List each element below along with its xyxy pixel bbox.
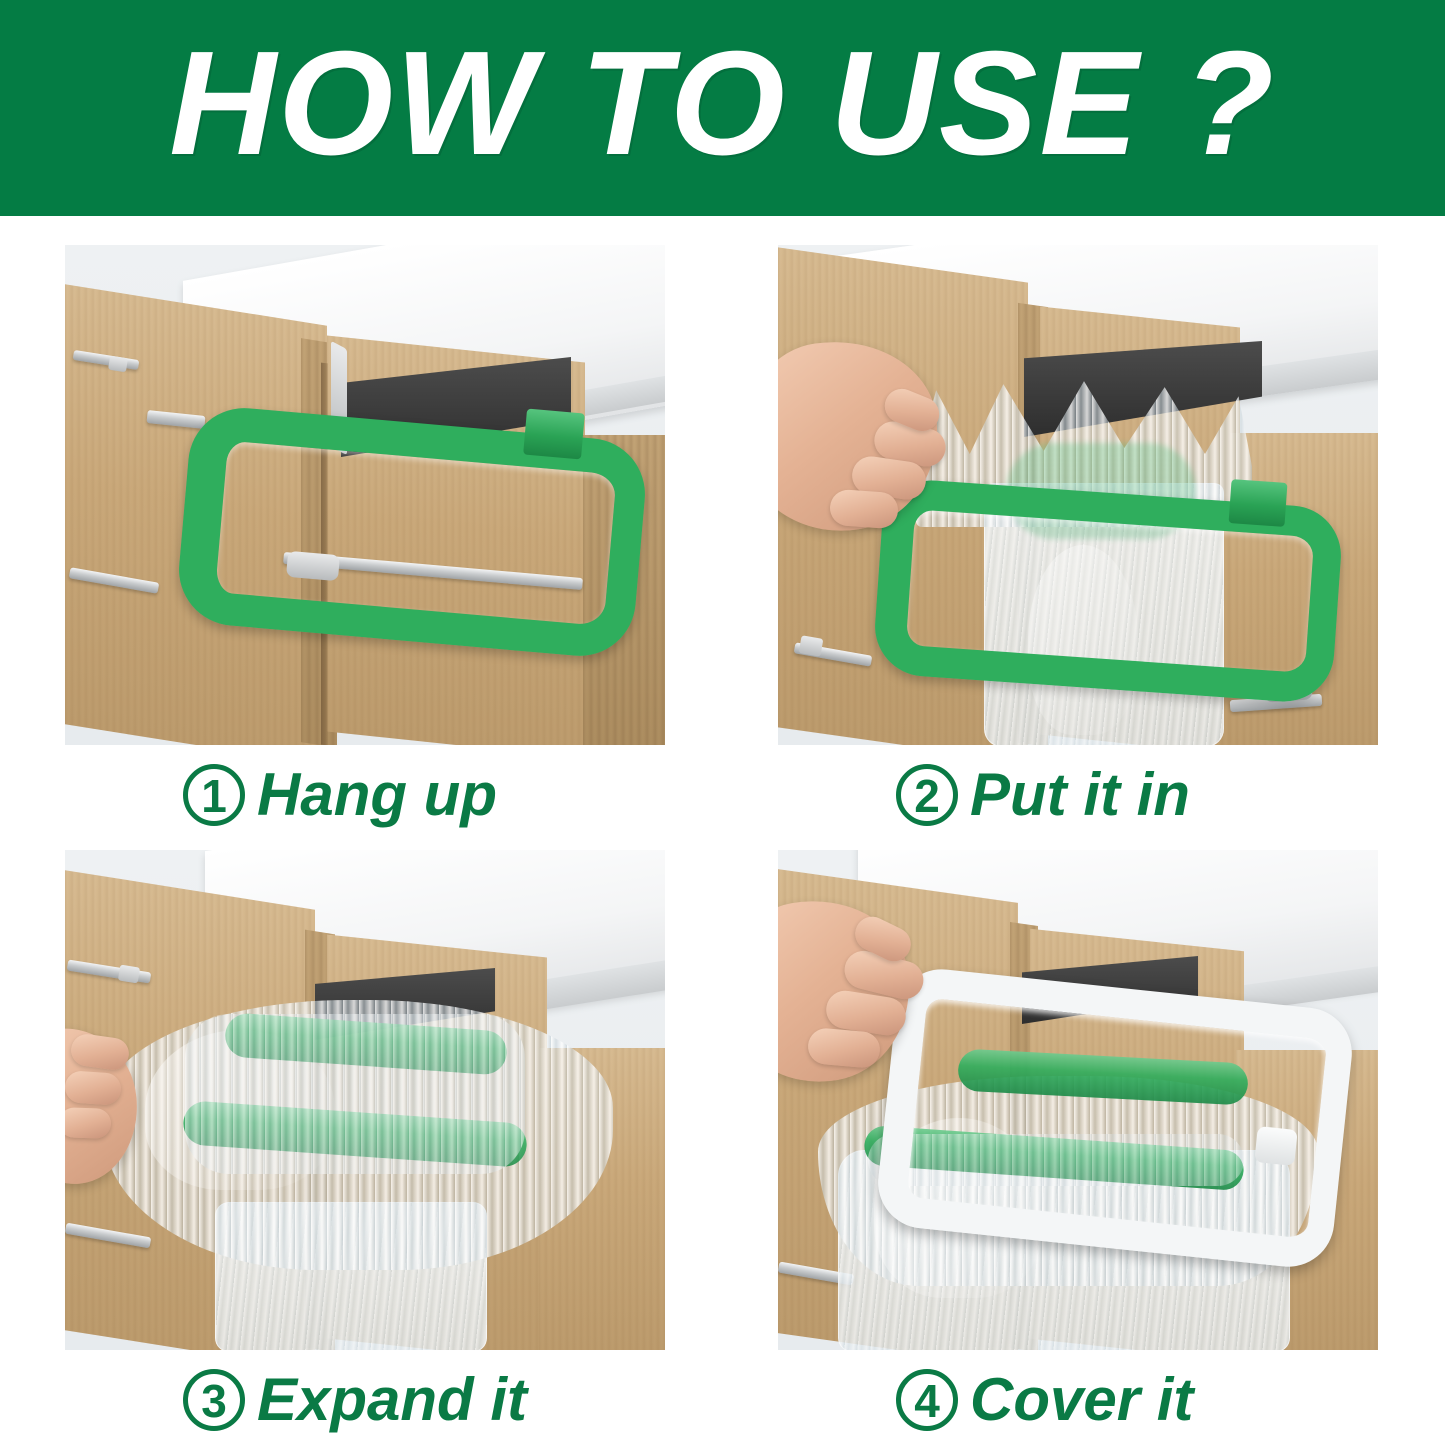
step-photo-1 (65, 245, 665, 745)
step-number-badge-2: 2 (896, 764, 958, 826)
header-banner: HOW TO USE ? (0, 0, 1445, 216)
step-photo-2 (778, 245, 1378, 745)
step-photo-3 (65, 850, 665, 1350)
step-caption-3: 3 Expand it (65, 1362, 665, 1438)
step-caption-1: 1 Hang up (65, 757, 665, 833)
step-number-badge-4: 4 (896, 1369, 958, 1431)
drawer-handle-top-knob (108, 356, 128, 373)
step-caption-text-3: Expand it (257, 1367, 527, 1433)
step-number-badge-1: 1 (183, 764, 245, 826)
step-caption-2: 2 Put it in (778, 757, 1378, 833)
step-caption-text-1: Hang up (257, 762, 497, 828)
step-caption-text-2: Put it in (970, 762, 1190, 828)
white-cover-frame (874, 965, 1357, 1271)
step-photo-4 (778, 850, 1378, 1350)
finger-ring (65, 1107, 112, 1139)
step-number-badge-3: 3 (183, 1369, 245, 1431)
step-card-3: 3 Expand it (65, 850, 665, 1438)
steps-grid: 1 Hang up (0, 216, 1445, 1445)
white-cover-clip (1254, 1126, 1298, 1166)
step-caption-4: 4 Cover it (778, 1362, 1378, 1438)
green-frame-hook (1229, 479, 1288, 527)
drawer-handle-left-knob (799, 635, 824, 657)
finger-middle (65, 1070, 122, 1106)
green-frame-hook (523, 409, 585, 460)
finger-ring (829, 489, 899, 530)
step-card-2: 2 Put it in (778, 245, 1378, 833)
finger-ring (807, 1027, 882, 1069)
step-caption-text-4: Cover it (970, 1367, 1193, 1433)
plastic-bag-inner-ruffle (185, 1014, 525, 1174)
drawer-handle-top-knob (118, 965, 140, 984)
step-card-1: 1 Hang up (65, 245, 665, 833)
step-card-4: 4 Cover it (778, 850, 1378, 1438)
page-title: HOW TO USE ? (169, 29, 1276, 179)
